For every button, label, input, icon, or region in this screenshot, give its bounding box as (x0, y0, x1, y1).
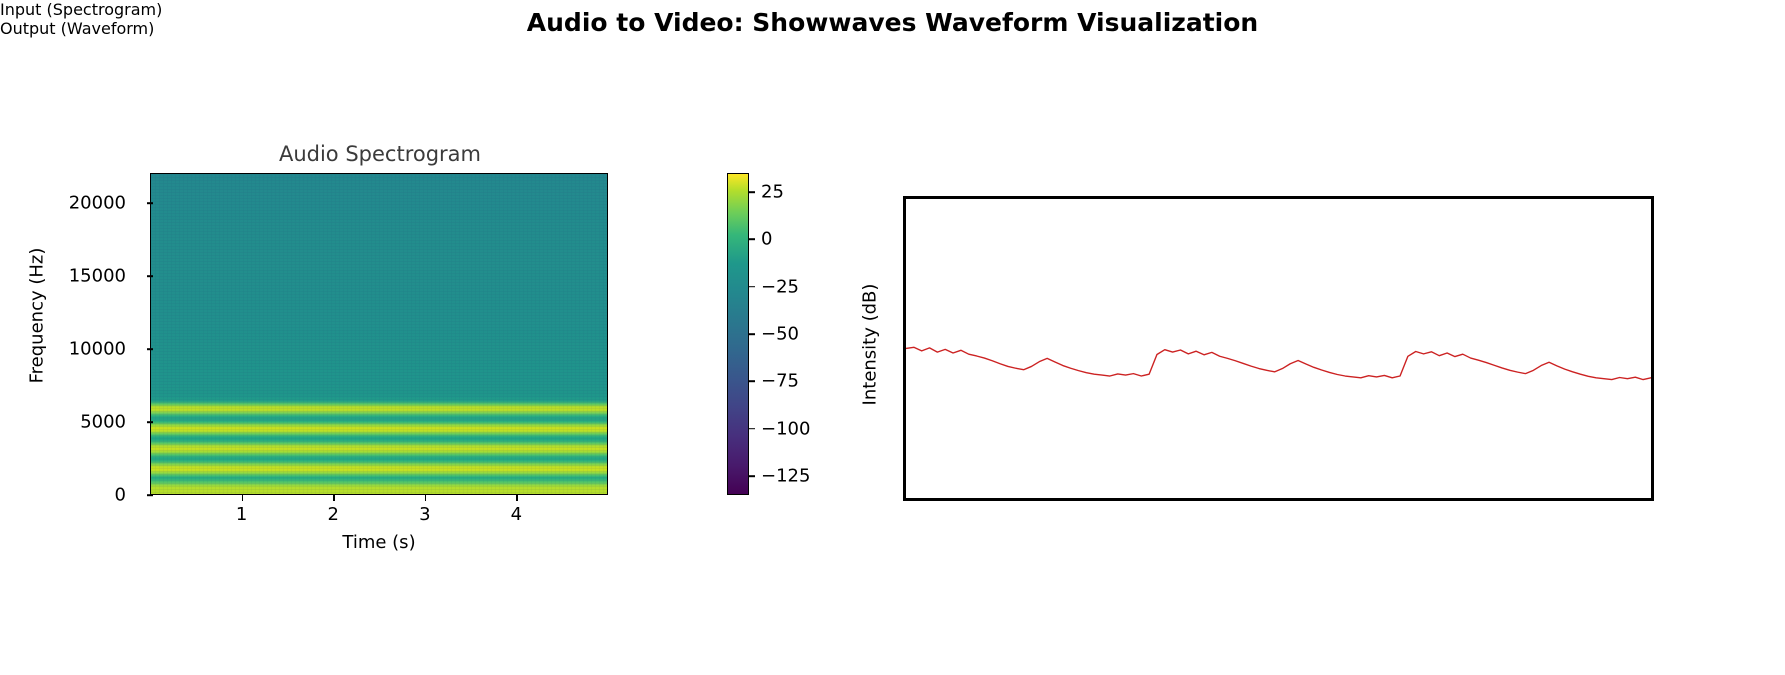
spectrogram-x-tick-mark (333, 495, 335, 501)
colorbar-tick-mark (749, 381, 755, 383)
waveform-plot-area (903, 196, 1654, 501)
spectrogram-y-tick-label: 10000 (69, 338, 126, 359)
spectrogram-x-tick-label: 2 (327, 504, 338, 525)
spectrogram-y-tick-label: 0 (115, 485, 126, 506)
colorbar-tick-label: 0 (761, 229, 772, 250)
colorbar-label: Intensity (dB) (860, 235, 881, 455)
colorbar-gradient (727, 173, 749, 495)
spectrogram-x-tick-label: 4 (511, 504, 522, 525)
colorbar-tick-mark (749, 238, 755, 240)
spectrogram-y-tick-label: 15000 (69, 265, 126, 286)
colorbar-tick-mark (749, 475, 755, 477)
colorbar-tick-label: −125 (761, 466, 810, 487)
colorbar-tick-mark (749, 286, 755, 288)
spectrogram-x-tick-label: 3 (419, 504, 430, 525)
spectrogram-y-tick-label: 20000 (69, 192, 126, 213)
spectrogram-y-tick-mark (147, 202, 153, 204)
spectrogram-y-tick-label: 5000 (80, 411, 126, 432)
colorbar-tick-label: −100 (761, 418, 810, 439)
colorbar-axis: 250−25−50−75−100−125 (749, 173, 839, 495)
spectrogram-axes-title: Audio Spectrogram (150, 142, 610, 166)
colorbar-tick-label: −25 (761, 276, 799, 297)
spectrogram-y-axis: 05000100001500020000 (48, 173, 140, 495)
spectrogram-x-axis: 1234 (150, 495, 608, 535)
spectrogram-y-tick-mark (147, 348, 153, 350)
waveform-line (906, 347, 1651, 379)
colorbar-tick-label: 25 (761, 181, 784, 202)
spectrogram-x-tick-mark (242, 495, 244, 501)
spectrogram-y-axis-label: Frequency (Hz) (27, 216, 48, 416)
spectrogram-y-tick-mark (147, 421, 153, 423)
colorbar-tick-label: −75 (761, 371, 799, 392)
colorbar-tick-mark (749, 428, 755, 430)
spectrogram-x-tick-label: 1 (236, 504, 247, 525)
spectrogram-noise-texture (151, 174, 607, 494)
spectrogram-y-tick-mark (147, 275, 153, 277)
waveform-svg (906, 199, 1651, 498)
colorbar-tick-mark (749, 333, 755, 335)
spectrogram-x-tick-mark (516, 495, 518, 501)
figure-suptitle: Audio to Video: Showwaves Waveform Visua… (0, 8, 1785, 37)
colorbar-tick-label: −50 (761, 324, 799, 345)
colorbar-tick-mark (749, 191, 755, 193)
spectrogram-x-axis-label: Time (s) (150, 532, 608, 553)
spectrogram-x-tick-mark (425, 495, 427, 501)
spectrogram-plot-area (150, 173, 608, 495)
